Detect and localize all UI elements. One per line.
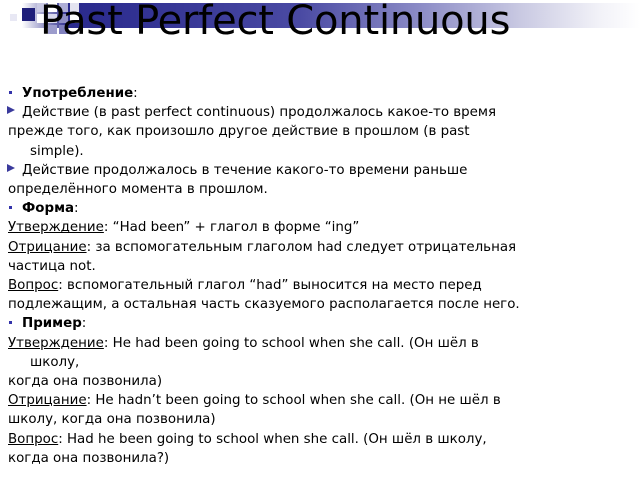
- form-row-negative-text: за вспомогательным глаголом had следует …: [95, 240, 516, 255]
- example-row-affirmative-label: Утверждение: [8, 336, 104, 351]
- section-heading-example: Пример:: [0, 314, 640, 333]
- usage-item-1-line-2: прежде того, как произошло другое действ…: [8, 124, 470, 139]
- example-heading-colon: :: [82, 316, 87, 331]
- usage-heading-text: Употребление: [22, 86, 133, 101]
- form-row-question-text-cont: подлежащим, а остальная часть сказуемого…: [8, 297, 520, 312]
- usage-item-1: Действие (в past perfect continuous) про…: [0, 103, 640, 122]
- usage-item-1-line-1: Действие (в past perfect continuous) про…: [22, 105, 496, 120]
- example-heading-text: Пример: [22, 316, 82, 331]
- usage-heading-colon: :: [133, 86, 138, 101]
- slide-body: Употребление: Действие (в past perfect c…: [0, 84, 640, 468]
- form-row-negative-text-cont: частица not.: [8, 259, 96, 274]
- form-row-question-cont-wrap: подлежащим, а остальная часть сказуемого…: [0, 295, 640, 314]
- form-row-affirmative: Утверждение: “Had been” + глагол в форме…: [0, 218, 640, 237]
- usage-item-1-line-3: simple).: [30, 144, 84, 159]
- example-row-question-cont-wrap: когда она позвонила?): [0, 449, 640, 468]
- form-row-negative-cont-wrap: частица not.: [0, 257, 640, 276]
- example-row-negative-text: He hadn’t been going to school when she …: [95, 393, 500, 408]
- example-row-affirmative: Утверждение: He had been going to school…: [0, 334, 640, 353]
- example-row-negative-text-cont: школу, когда она позвонила): [8, 412, 216, 427]
- slide-title: Past Perfect Continuous: [40, 0, 600, 46]
- section-heading-usage: Употребление:: [0, 84, 640, 103]
- form-row-affirmative-sep: :: [104, 220, 113, 235]
- form-row-affirmative-text: “Had been” + глагол в форме “ing”: [113, 220, 360, 235]
- form-heading-colon: :: [74, 201, 79, 216]
- presentation-slide: Past Perfect Continuous Употребление: Де…: [0, 0, 640, 480]
- form-row-negative-label: Отрицание: [8, 240, 87, 255]
- example-row-negative-cont-wrap: школу, когда она позвонила): [0, 410, 640, 429]
- form-row-question-text: вспомогательный глагол “had” выносится н…: [67, 278, 482, 293]
- form-row-question: Вопрос: вспомогательный глагол “had” вын…: [0, 276, 640, 295]
- decor-square-icon: [10, 14, 17, 21]
- bullet-dot-icon: [9, 206, 12, 209]
- example-row-negative-label: Отрицание: [8, 393, 87, 408]
- example-row-affirmative-cont-wrap: когда она позвонила): [0, 372, 640, 391]
- arrow-bullet-icon: [7, 106, 15, 114]
- example-row-affirmative-sep: :: [104, 336, 113, 351]
- example-row-negative: Отрицание: He hadn’t been going to schoo…: [0, 391, 640, 410]
- example-row-affirmative-text: He had been going to school when she cal…: [113, 336, 479, 351]
- usage-item-2: Действие продолжалось в течение какого-т…: [0, 161, 640, 180]
- example-row-question-sep: :: [58, 432, 67, 447]
- form-row-question-sep: :: [58, 278, 67, 293]
- example-row-affirmative-indent-wrap: школу,: [0, 353, 640, 372]
- bullet-dot-icon: [9, 91, 12, 94]
- example-row-question-label: Вопрос: [8, 432, 58, 447]
- usage-item-2-line-2-wrap: определённого момента в прошлом.: [0, 180, 640, 199]
- form-row-question-label: Вопрос: [8, 278, 58, 293]
- decor-square-icon: [22, 8, 35, 21]
- example-row-question: Вопрос: Had he been going to school when…: [0, 430, 640, 449]
- arrow-bullet-icon: [7, 164, 15, 172]
- section-heading-form: Форма:: [0, 199, 640, 218]
- example-row-affirmative-text-indent: школу,: [30, 355, 79, 370]
- form-row-affirmative-label: Утверждение: [8, 220, 104, 235]
- usage-item-1-line-2-wrap: прежде того, как произошло другое действ…: [0, 122, 640, 141]
- form-heading-text: Форма: [22, 201, 74, 216]
- usage-item-1-line-3-wrap: simple).: [0, 142, 640, 161]
- example-row-question-text: Had he been going to school when she cal…: [67, 432, 487, 447]
- example-row-affirmative-text-cont: когда она позвонила): [8, 374, 162, 389]
- bullet-dot-icon: [9, 321, 12, 324]
- example-row-question-text-cont: когда она позвонила?): [8, 451, 169, 466]
- usage-item-2-line-1: Действие продолжалось в течение какого-т…: [22, 163, 467, 178]
- form-row-negative: Отрицание: за вспомогательным глаголом h…: [0, 238, 640, 257]
- usage-item-2-line-2: определённого момента в прошлом.: [8, 182, 268, 197]
